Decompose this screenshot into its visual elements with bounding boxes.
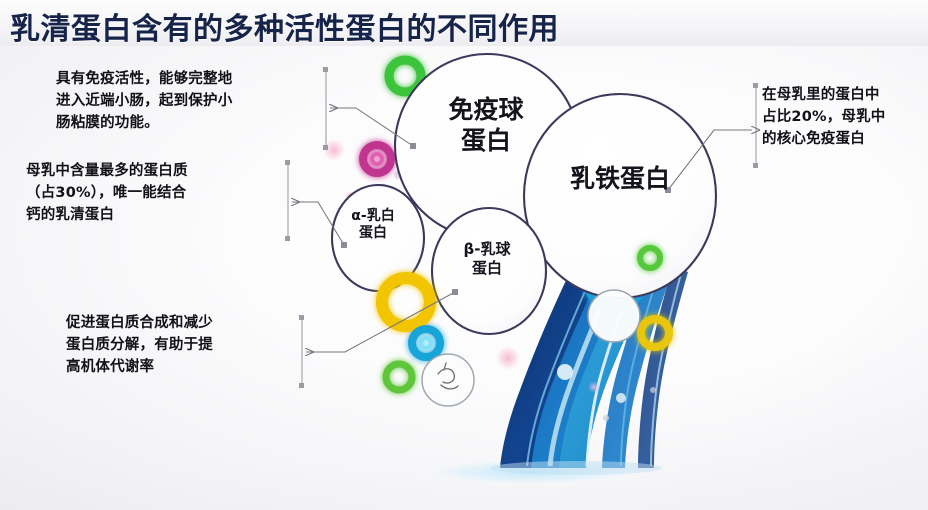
dot-pale-2 <box>616 393 626 403</box>
dot-grey-1 <box>603 415 609 421</box>
anchor-callout-0[interactable] <box>410 143 416 149</box>
callout-alpha-lactalbumin-note: 母乳中含量最多的蛋白质 （占30%），唯一能结合 钙的乳清蛋白 <box>26 160 284 226</box>
callout-immunoglobulin-note: 具有免疫活性，能够完整地 进入近端小肠，起到保护小 肠粘膜的功能。 <box>56 68 324 134</box>
dot-pink-1 <box>496 346 520 370</box>
anchor-callout-3[interactable] <box>665 187 671 193</box>
handle-callout-3-top[interactable] <box>753 83 758 88</box>
dot-pale-1 <box>557 364 573 380</box>
dot-violet-2 <box>588 381 600 393</box>
anchor-callout-1[interactable] <box>341 242 347 248</box>
anchor-callout-2[interactable] <box>452 289 458 295</box>
handle-callout-0-bottom[interactable] <box>323 145 328 150</box>
slide-canvas: 乳清蛋白含有的多种活性蛋白的不同作用 <box>0 0 928 510</box>
handle-callout-2-bottom[interactable] <box>299 383 304 388</box>
bubble-beta-lactoglobulin[interactable] <box>432 208 546 334</box>
handle-callout-3-bottom[interactable] <box>753 163 758 168</box>
handle-callout-2-top[interactable] <box>299 315 304 320</box>
callout-lactoferrin-note: 在母乳里的蛋白中 占比20%，母乳中 的核心免疫蛋白 <box>762 84 928 150</box>
dot-grey-2 <box>650 387 656 393</box>
handle-callout-1-top[interactable] <box>285 160 290 165</box>
callout-beta-lactoglobulin-note: 促进蛋白质合成和减少 蛋白质分解，有助于提 高机体代谢率 <box>66 312 298 378</box>
handle-callout-1-bottom[interactable] <box>285 236 290 241</box>
bubble-lactoferrin[interactable] <box>524 94 716 298</box>
leaf-sketch-circle <box>422 354 474 406</box>
small-white-circle-right <box>588 290 640 342</box>
